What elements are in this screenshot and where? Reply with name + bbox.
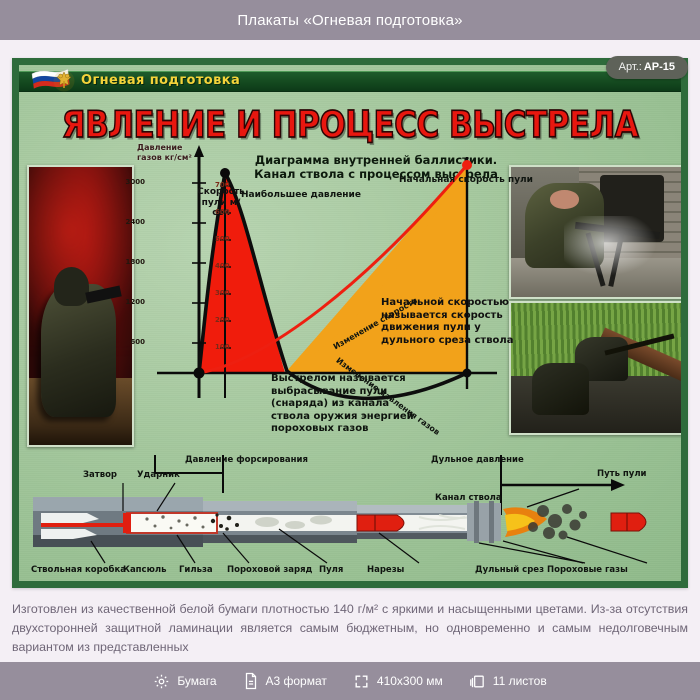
russian-flag-eagle-emblem-icon: [31, 66, 83, 96]
barrel-label-narezy: Нарезы: [367, 565, 404, 575]
barrel-label-pulya: Пуля: [319, 565, 343, 575]
expand-icon: [353, 673, 370, 690]
spec-format: А3 формат: [243, 672, 327, 690]
barrel-label-put-puli: Путь пули: [597, 469, 647, 479]
top-title-bar: Плакаты «Огневая подготовка»: [0, 0, 700, 40]
barrel-label-zatvor: Затвор: [83, 470, 117, 480]
barrel-label-dulnyi-srez: Дульный срез: [475, 565, 544, 575]
y-left-tick-2400: 2400: [119, 218, 145, 226]
layers-icon: [469, 673, 486, 690]
barrel-label-udarnik: Ударник: [137, 470, 180, 480]
poster-main-title: ЯВЛЕНИЕ И ПРОЦЕСС ВЫСТРЕЛА: [19, 104, 681, 146]
article-label: Арт.:: [619, 61, 642, 73]
y-right-tick-500: 500: [215, 235, 235, 243]
page-root: Плакаты «Огневая подготовка» Арт.:АР-15: [0, 0, 700, 700]
photo-soldiers-in-grass: [509, 301, 682, 435]
spec-material-label: Бумага: [177, 674, 216, 688]
spec-sheets: 11 листов: [469, 673, 547, 690]
text-v0-definition: Начальной скоростью называется скорость …: [381, 297, 529, 347]
barrel-cross-section-diagram: [27, 455, 679, 582]
y-right-tick-300: 300: [215, 289, 235, 297]
y-left-tick-1800: 1800: [119, 258, 145, 266]
spec-material: Бумага: [153, 673, 216, 690]
spec-format-label: А3 формат: [266, 674, 327, 688]
spec-bar: Бумага А3 формат 410x300 мм: [0, 662, 700, 700]
product-description: Изготовлен из качественной белой бумаги …: [12, 600, 688, 657]
spec-size: 410x300 мм: [353, 673, 443, 690]
y-left-tick-600: 600: [119, 338, 145, 346]
photo-soldier-firing-red-smoke: [27, 165, 134, 447]
annotation-max-pressure: Наибольшее давление: [241, 190, 361, 200]
barrel-label-stvolnaya: Ствольная коробка: [31, 565, 126, 575]
document-icon: [243, 672, 259, 690]
gear-icon: [153, 673, 170, 690]
barrel-label-kanal: Канал ствола: [435, 493, 502, 503]
y-right-tick-200: 200: [215, 316, 235, 324]
page-title: Плакаты «Огневая подготовка»: [237, 12, 462, 29]
y-axis-left-label: Давление газов кг/см²: [137, 143, 197, 163]
y-right-tick-700: 700: [215, 181, 235, 189]
barrel-label-gilza: Гильза: [179, 565, 213, 575]
y-left-tick-3000: 3000: [119, 178, 145, 186]
text-shot-definition: Выстрелом называется выбрасывание пули (…: [271, 373, 421, 436]
poster-canvas: Огневая подготовка ЯВЛЕНИЕ И ПРОЦЕСС ВЫС…: [18, 64, 682, 582]
barrel-label-gazy: Пороховые газы: [547, 565, 628, 575]
poster-image[interactable]: Огневая подготовка ЯВЛЕНИЕ И ПРОЦЕСС ВЫС…: [12, 58, 688, 588]
article-value: АР-15: [644, 61, 675, 73]
annotation-muzzle-velocity: Начальная скорость пули: [399, 175, 533, 185]
spec-size-label: 410x300 мм: [377, 674, 443, 688]
y-right-tick-100: 100: [215, 343, 235, 351]
photo-machine-gunner-smoke: [509, 165, 682, 299]
y-right-tick-400: 400: [215, 262, 235, 270]
spec-sheets-label: 11 листов: [493, 674, 547, 688]
article-badge: Арт.:АР-15: [606, 56, 688, 79]
barrel-label-zaryad: Пороховой заряд: [227, 565, 312, 575]
poster-section-title: Огневая подготовка: [81, 71, 240, 90]
barrel-label-kapsul: Капсюль: [123, 565, 166, 575]
y-right-tick-600: 600: [215, 208, 235, 216]
y-left-tick-1200: 1200: [119, 298, 145, 306]
